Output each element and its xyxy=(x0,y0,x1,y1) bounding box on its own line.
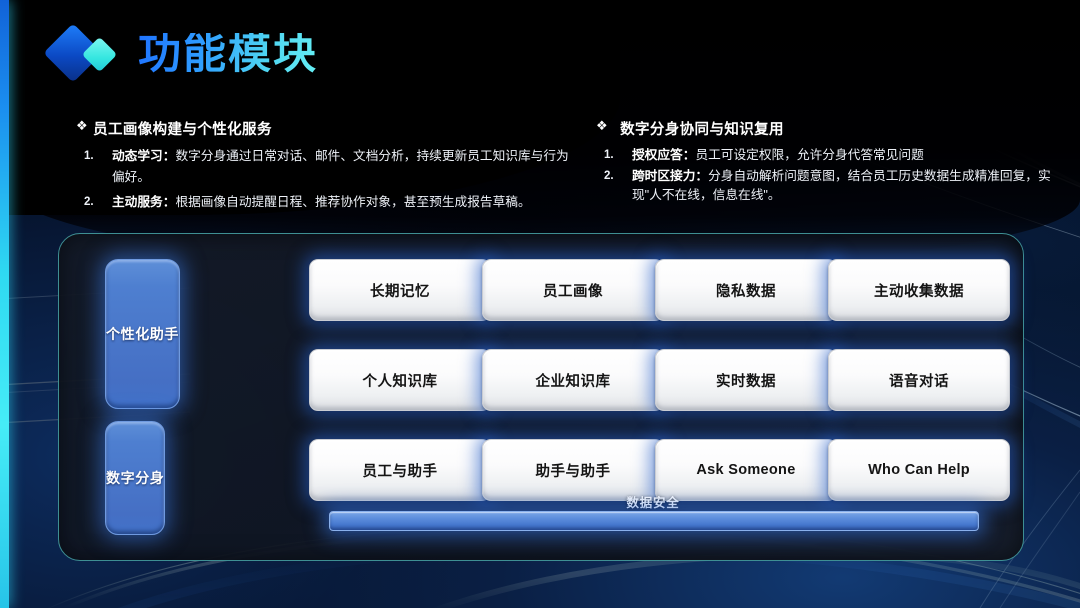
card-voice-dialogue[interactable]: 语音对话 xyxy=(828,349,1010,411)
blue-card-label: 数字分身 xyxy=(106,468,164,488)
page-header: 功能模块 xyxy=(52,26,318,82)
card-label: 员工画像 xyxy=(543,280,603,301)
page-title: 功能模块 xyxy=(138,33,318,76)
bullet-heading-left-text: 员工画像构建与个性化服务 xyxy=(93,118,272,139)
slide-root: 功能模块 ❖ 员工画像构建与个性化服务 1. 动态学习：数字分身通过日常对话、邮… xyxy=(0,0,1080,608)
security-bar-label: 数据安全 xyxy=(329,492,977,511)
card-realtime-data[interactable]: 实时数据 xyxy=(655,349,837,411)
list-item-lead: 动态学习： xyxy=(112,149,175,163)
diagram-grid: 个性化助手 数字分身 长期记忆 个人知识库 员工与助手 员工画像 企业知识库 助… xyxy=(105,259,977,533)
card-long-term-memory[interactable]: 长期记忆 xyxy=(309,259,491,321)
list-item-body: 员工可设定权限，允许分身代答常见问题 xyxy=(695,148,923,162)
list-item-text: 跨时区接力：分身自动解析问题意图，结合员工历史数据生成精准回复，实现"人不在线，… xyxy=(632,167,1056,205)
list-item: 2. 跨时区接力：分身自动解析问题意图，结合员工历史数据生成精准回复，实现"人不… xyxy=(596,167,1056,205)
list-item-number: 2. xyxy=(596,167,632,205)
list-item: 2. 主动服务：根据画像自动提醒日程、推荐协作对象，甚至预生成报告草稿。 xyxy=(76,192,576,213)
blue-card-digital-twin[interactable]: 数字分身 xyxy=(105,421,165,535)
list-item-text: 授权应答：员工可设定权限，允许分身代答常见问题 xyxy=(632,146,1056,165)
security-bar-group: 数据安全 xyxy=(329,509,977,533)
security-bar[interactable] xyxy=(329,511,979,531)
bullet-column-right: ❖ 数字分身协同与知识复用 1. 授权应答：员工可设定权限，允许分身代答常见问题… xyxy=(596,118,1056,207)
card-label: 隐私数据 xyxy=(716,280,776,301)
bullet-heading-right-text: 数字分身协同与知识复用 xyxy=(620,118,784,139)
bullet-list-right: 1. 授权应答：员工可设定权限，允许分身代答常见问题 2. 跨时区接力：分身自动… xyxy=(596,146,1056,205)
card-label: 员工与助手 xyxy=(363,460,438,481)
diamond-bullet-icon: ❖ xyxy=(596,118,608,134)
card-active-data-collection[interactable]: 主动收集数据 xyxy=(828,259,1010,321)
left-accent-strip xyxy=(0,0,9,608)
list-item-number: 1. xyxy=(76,146,112,187)
card-label: Ask Someone xyxy=(696,462,795,478)
diagram-panel: 个性化助手 数字分身 长期记忆 个人知识库 员工与助手 员工画像 企业知识库 助… xyxy=(58,233,1024,561)
card-label: 企业知识库 xyxy=(536,370,611,391)
bullet-heading-right: ❖ 数字分身协同与知识复用 xyxy=(596,118,1056,139)
bullet-list-left: 1. 动态学习：数字分身通过日常对话、邮件、文档分析，持续更新员工知识库与行为偏… xyxy=(76,146,576,213)
card-privacy-data[interactable]: 隐私数据 xyxy=(655,259,837,321)
card-label: 个人知识库 xyxy=(363,370,438,391)
list-item: 1. 授权应答：员工可设定权限，允许分身代答常见问题 xyxy=(596,146,1056,165)
list-item-text: 主动服务：根据画像自动提醒日程、推荐协作对象，甚至预生成报告草稿。 xyxy=(112,192,576,213)
list-item: 1. 动态学习：数字分身通过日常对话、邮件、文档分析，持续更新员工知识库与行为偏… xyxy=(76,146,576,187)
list-item-body: 根据画像自动提醒日程、推荐协作对象，甚至预生成报告草稿。 xyxy=(175,195,530,209)
list-item-lead: 授权应答： xyxy=(632,148,695,162)
list-item-number: 1. xyxy=(596,146,632,165)
card-personal-knowledge-base[interactable]: 个人知识库 xyxy=(309,349,491,411)
card-label: Who Can Help xyxy=(868,462,970,478)
list-item-lead: 跨时区接力： xyxy=(632,169,708,183)
card-label: 语音对话 xyxy=(889,370,949,391)
diamond-bullet-icon: ❖ xyxy=(76,118,88,134)
list-item-body: 数字分身通过日常对话、邮件、文档分析，持续更新员工知识库与行为偏好。 xyxy=(112,149,569,184)
list-item-number: 2. xyxy=(76,192,112,213)
card-label: 实时数据 xyxy=(716,370,776,391)
card-label: 助手与助手 xyxy=(536,460,611,481)
bullet-column-left: ❖ 员工画像构建与个性化服务 1. 动态学习：数字分身通过日常对话、邮件、文档分… xyxy=(76,118,576,218)
list-item-lead: 主动服务： xyxy=(112,195,175,209)
blue-card-label: 个性化助手 xyxy=(106,324,179,344)
card-employee-profile[interactable]: 员工画像 xyxy=(482,259,664,321)
card-label: 长期记忆 xyxy=(370,280,430,301)
diamond-logo xyxy=(52,26,124,82)
card-label: 主动收集数据 xyxy=(874,280,964,301)
list-item-text: 动态学习：数字分身通过日常对话、邮件、文档分析，持续更新员工知识库与行为偏好。 xyxy=(112,146,576,187)
bullet-heading-left: ❖ 员工画像构建与个性化服务 xyxy=(76,118,576,139)
card-enterprise-knowledge-base[interactable]: 企业知识库 xyxy=(482,349,664,411)
blue-card-personal-assistant[interactable]: 个性化助手 xyxy=(105,259,180,409)
